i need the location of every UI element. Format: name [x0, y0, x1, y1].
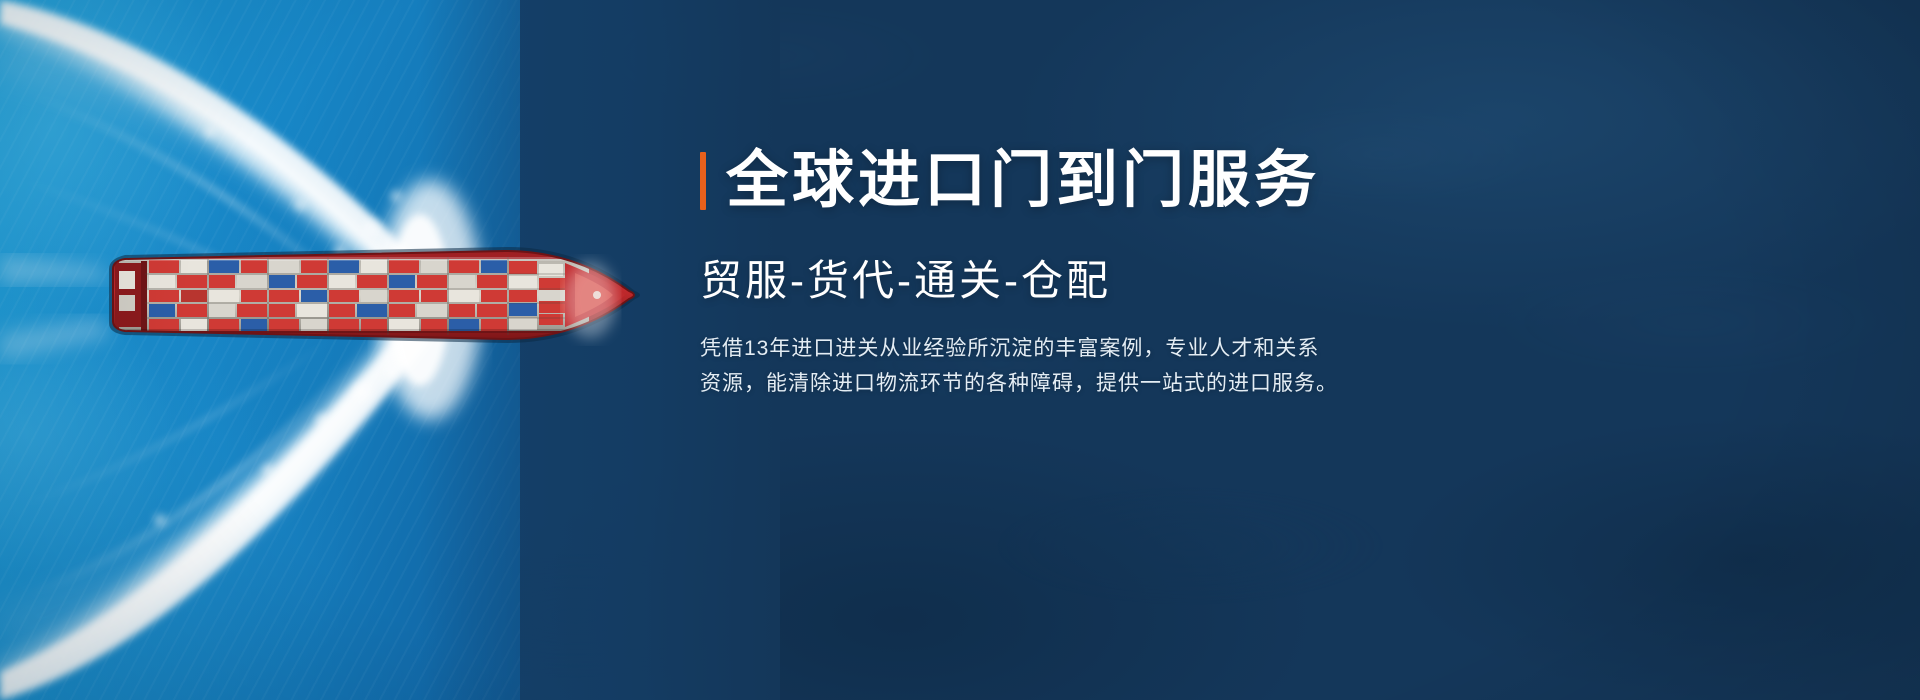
- headline-row: 全球进口门到门服务: [700, 150, 1460, 212]
- description-line-2: 资源，能清除进口物流环节的各种障碍，提供一站式的进口服务。: [700, 367, 1420, 402]
- hero-banner: 全球进口门到门服务 贸服-货代-通关-仓配 凭借13年进口进关从业经验所沉淀的丰…: [0, 0, 1920, 700]
- banner-content: 全球进口门到门服务 贸服-货代-通关-仓配 凭借13年进口进关从业经验所沉淀的丰…: [700, 150, 1460, 401]
- container-ship: [105, 243, 645, 348]
- description-text: 凭借13年进口进关从业经验所沉淀的丰富案例，专业人才和关系 资源，能清除进口物流…: [700, 332, 1420, 401]
- accent-bar-icon: [700, 152, 706, 210]
- description-line-1: 凭借13年进口进关从业经验所沉淀的丰富案例，专业人才和关系: [700, 332, 1420, 367]
- subtitle: 贸服-货代-通关-仓配: [700, 260, 1460, 302]
- page-title: 全球进口门到门服务: [726, 150, 1320, 212]
